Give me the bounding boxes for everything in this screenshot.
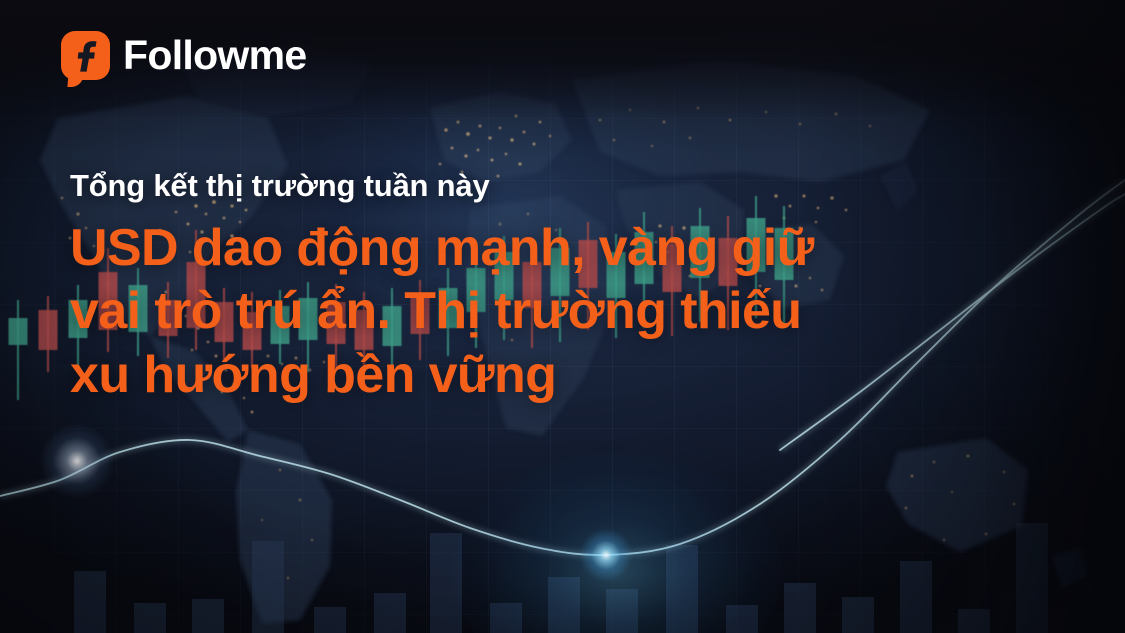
followme-market-banner: Followme Tổng kết thị trường tuần này US…	[0, 0, 1125, 633]
hero-headline: USD dao động mạnh, vàng giữ vai trò trú …	[70, 217, 570, 407]
brand-name: Followme	[123, 35, 306, 76]
headline-line-2: vai trò trú ẩn. Thị trường thiếu	[70, 280, 570, 343]
hero-text-block: Tổng kết thị trường tuần này USD dao độn…	[70, 168, 1070, 407]
banner-content: Followme Tổng kết thị trường tuần này US…	[0, 0, 1125, 633]
headline-line-1: USD dao động mạnh, vàng giữ	[70, 217, 570, 280]
followme-chat-f-icon	[61, 31, 110, 80]
hero-kicker: Tổng kết thị trường tuần này	[70, 168, 1070, 204]
headline-line-3: xu hướng bền vững	[70, 344, 570, 407]
brand-logo[interactable]: Followme	[61, 31, 306, 80]
